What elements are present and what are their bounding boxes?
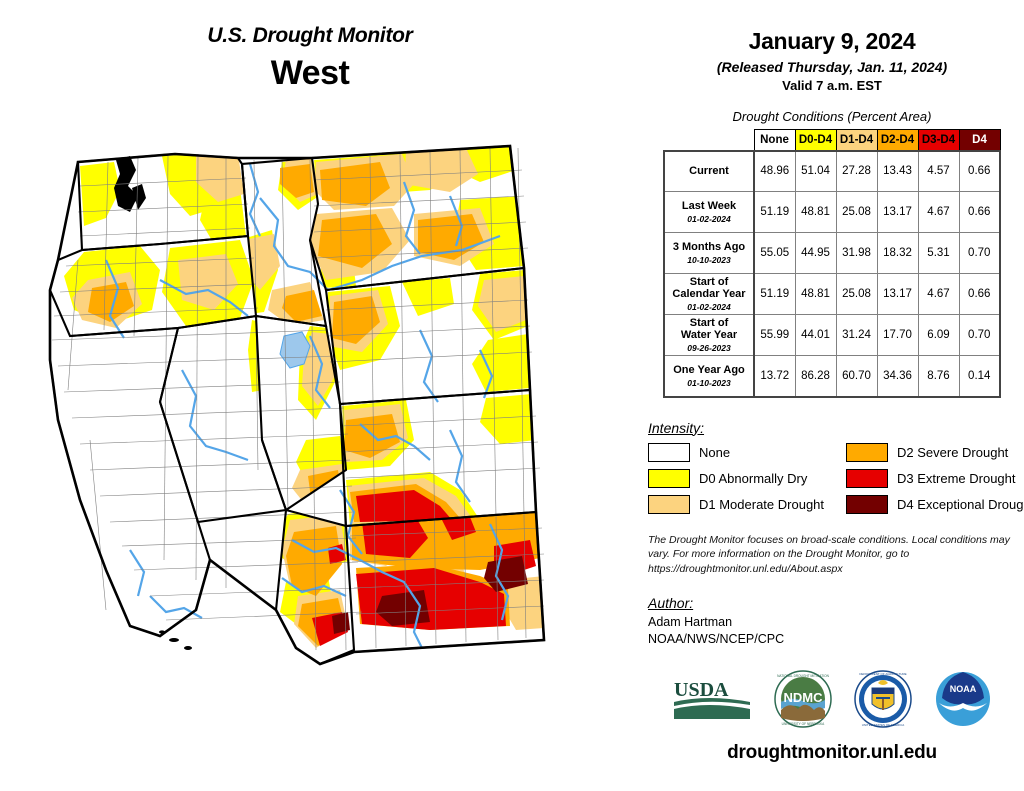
info-panel: January 9, 2024 (Released Thursday, Jan.… (640, 0, 1024, 791)
noaa-logo: NOAA (934, 670, 992, 733)
table-row: One Year Ago01-10-202313.7286.2860.7034.… (664, 356, 1000, 397)
svg-text:DEPARTMENT OF AGRICULTURE: DEPARTMENT OF AGRICULTURE (859, 672, 906, 676)
table-cell: 51.19 (754, 274, 795, 315)
table-row-date: 10-10-2023 (669, 255, 749, 265)
legend-label: D4 Exceptional Drought (897, 497, 1024, 512)
table-cell: 0.14 (959, 356, 1000, 397)
table-row: Current48.9651.0427.2813.434.570.66 (664, 151, 1000, 192)
table-cell: 34.36 (877, 356, 918, 397)
legend-label: D1 Moderate Drought (699, 497, 824, 512)
svg-text:NOAA: NOAA (950, 684, 977, 694)
svg-text:USDA: USDA (674, 679, 729, 701)
legend-grid: NoneD2 Severe DroughtD0 Abnormally DryD3… (648, 443, 1000, 514)
table-row-date: 09-26-2023 (669, 343, 749, 353)
table-cell: 4.67 (918, 192, 959, 233)
drought-conditions-table: NoneD0-D4D1-D4D2-D4D3-D4D4 Current48.965… (663, 129, 1001, 398)
table-cell: 6.09 (918, 315, 959, 356)
table-column-header-d4: D4 (959, 130, 1000, 151)
table-row-label: Start ofCalendar Year01-02-2024 (664, 274, 754, 315)
table-cell: 27.28 (836, 151, 877, 192)
legend-label: None (699, 445, 730, 460)
table-cell: 25.08 (836, 192, 877, 233)
table-cell: 0.66 (959, 151, 1000, 192)
table-cell: 48.81 (795, 274, 836, 315)
legend-swatch (648, 495, 690, 514)
table-row-label: Current (664, 151, 754, 192)
table-cell: 31.98 (836, 233, 877, 274)
table-cell: 13.43 (877, 151, 918, 192)
legend-heading: Intensity: (648, 420, 1024, 436)
table-row-label: Start ofWater Year09-26-2023 (664, 315, 754, 356)
table-column-header-d2-d4: D2-D4 (877, 130, 918, 151)
table-cell: 17.70 (877, 315, 918, 356)
release-date: (Released Thursday, Jan. 11, 2024) (640, 59, 1024, 75)
table-corner-cell (664, 130, 754, 151)
author-affiliation: NOAA/NWS/NCEP/CPC (648, 631, 1024, 648)
legend-swatch (846, 495, 888, 514)
table-row-date: 01-10-2023 (669, 378, 749, 388)
table-column-header-d0-d4: D0-D4 (795, 130, 836, 151)
logo-row: USDA NDMC NATIONAL DROUGHT MITIGATION UN… (640, 668, 1024, 734)
svg-text:NDMC: NDMC (784, 690, 824, 705)
legend-swatch (648, 443, 690, 462)
table-cell: 44.01 (795, 315, 836, 356)
page-title: West (0, 54, 620, 93)
table-cell: 18.32 (877, 233, 918, 274)
table-cell: 60.70 (836, 356, 877, 397)
table-row-label: Last Week01-02-2024 (664, 192, 754, 233)
table-cell: 8.76 (918, 356, 959, 397)
table-row: Start ofWater Year09-26-202355.9944.0131… (664, 315, 1000, 356)
table-cell: 25.08 (836, 274, 877, 315)
valid-time: Valid 7 a.m. EST (640, 78, 1024, 93)
svg-text:UNIVERSITY OF NEBRASKA: UNIVERSITY OF NEBRASKA (782, 722, 826, 726)
legend-swatch (648, 469, 690, 488)
table-cell: 44.95 (795, 233, 836, 274)
table-cell: 13.72 (754, 356, 795, 397)
legend-item[interactable]: D1 Moderate Drought (648, 495, 824, 514)
table-row-label: 3 Months Ago10-10-2023 (664, 233, 754, 274)
disclaimer-text: The Drought Monitor focuses on broad-sca… (648, 533, 1014, 578)
table-cell: 51.04 (795, 151, 836, 192)
legend-item[interactable]: D2 Severe Drought (846, 443, 1024, 462)
legend-label: D2 Severe Drought (897, 445, 1008, 460)
table-cell: 48.81 (795, 192, 836, 233)
ndmc-logo: NDMC NATIONAL DROUGHT MITIGATION UNIVERS… (774, 670, 832, 733)
table-cell: 48.96 (754, 151, 795, 192)
table-cell: 86.28 (795, 356, 836, 397)
map-panel: U.S. Drought Monitor West (0, 0, 640, 791)
table-caption: Drought Conditions (Percent Area) (640, 109, 1024, 124)
table-cell: 0.66 (959, 192, 1000, 233)
table-cell: 0.66 (959, 274, 1000, 315)
table-cell: 0.70 (959, 315, 1000, 356)
legend-item[interactable]: D0 Abnormally Dry (648, 469, 824, 488)
table-cell: 0.70 (959, 233, 1000, 274)
usda-seal-logo: DEPARTMENT OF AGRICULTURE UNITED STATES … (854, 670, 912, 733)
table-column-header-d3-d4: D3-D4 (918, 130, 959, 151)
table-header-row: NoneD0-D4D1-D4D2-D4D3-D4D4 (664, 130, 1000, 151)
table-row-label: One Year Ago01-10-2023 (664, 356, 754, 397)
table-column-header-none: None (754, 130, 795, 151)
date-block: January 9, 2024 (Released Thursday, Jan.… (640, 0, 1024, 93)
drought-map-svg (10, 140, 630, 760)
legend-item[interactable]: None (648, 443, 824, 462)
table-cell: 55.99 (754, 315, 795, 356)
svg-text:UNITED STATES OF AMERICA: UNITED STATES OF AMERICA (862, 723, 905, 727)
report-date: January 9, 2024 (640, 28, 1024, 55)
author-name: Adam Hartman (648, 614, 1024, 631)
table-cell: 13.17 (877, 274, 918, 315)
table-cell: 4.57 (918, 151, 959, 192)
table-cell: 5.31 (918, 233, 959, 274)
legend-swatch (846, 443, 888, 462)
table-cell: 55.05 (754, 233, 795, 274)
map-supertitle: U.S. Drought Monitor (0, 24, 620, 48)
drought-map[interactable] (10, 140, 630, 760)
usda-logo: USDA (672, 676, 752, 727)
table-cell: 4.67 (918, 274, 959, 315)
table-cell: 31.24 (836, 315, 877, 356)
legend-swatch (846, 469, 888, 488)
svg-text:NATIONAL DROUGHT MITIGATION: NATIONAL DROUGHT MITIGATION (777, 674, 829, 678)
table-row-date: 01-02-2024 (669, 214, 749, 224)
author-block: Author: Adam Hartman NOAA/NWS/NCEP/CPC (648, 595, 1024, 648)
table-cell: 13.17 (877, 192, 918, 233)
table-body: Current48.9651.0427.2813.434.570.66Last … (664, 151, 1000, 397)
legend-label: D0 Abnormally Dry (699, 471, 807, 486)
table-column-header-d1-d4: D1-D4 (836, 130, 877, 151)
table-row-date: 01-02-2024 (669, 302, 749, 312)
legend-label: D3 Extreme Drought (897, 471, 1016, 486)
legend-item[interactable]: D3 Extreme Drought (846, 469, 1024, 488)
table-row: Start ofCalendar Year01-02-202451.1948.8… (664, 274, 1000, 315)
table-cell: 51.19 (754, 192, 795, 233)
author-heading: Author: (648, 595, 1024, 611)
legend-block: Intensity: NoneD2 Severe DroughtD0 Abnor… (648, 420, 1024, 514)
table-row: Last Week01-02-202451.1948.8125.0813.174… (664, 192, 1000, 233)
footer-url[interactable]: droughtmonitor.unl.edu (640, 742, 1024, 764)
legend-item[interactable]: D4 Exceptional Drought (846, 495, 1024, 514)
map-title-block: U.S. Drought Monitor West (0, 24, 620, 93)
table-row: 3 Months Ago10-10-202355.0544.9531.9818.… (664, 233, 1000, 274)
